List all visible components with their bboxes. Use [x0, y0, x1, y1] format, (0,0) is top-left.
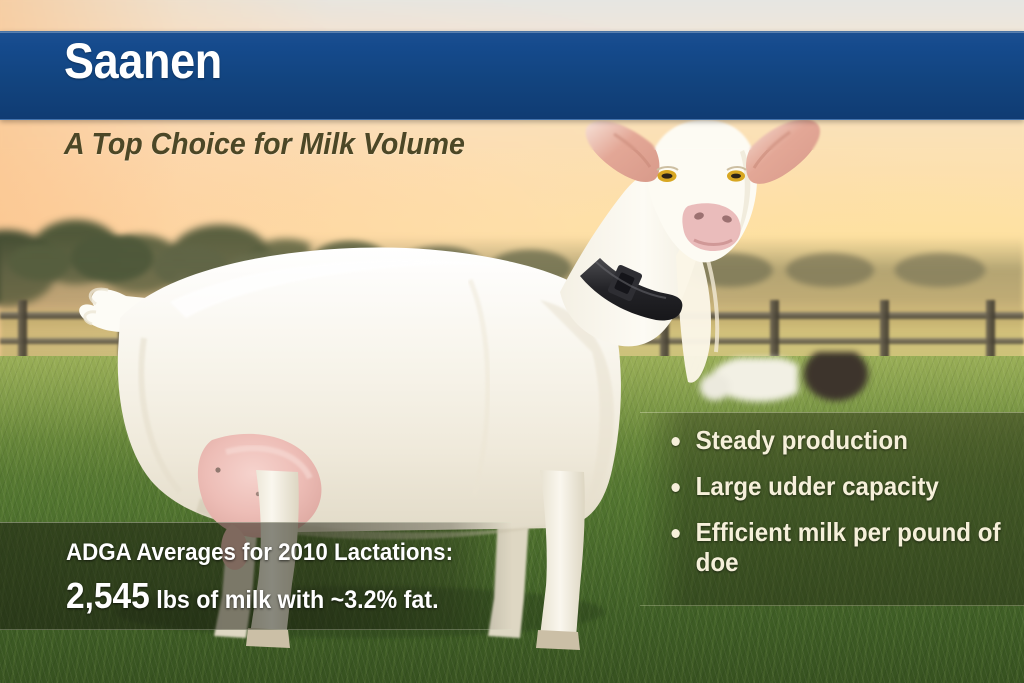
list-item-label: Large udder capacity — [696, 471, 939, 501]
page-subtitle: A Top Choice for Milk Volume — [64, 127, 465, 162]
page-title: Saanen — [64, 36, 222, 86]
list-item: Large udder capacity — [664, 471, 1008, 501]
infographic-card: Saanen A Top Choice for Milk Volume Stea… — [0, 0, 1024, 683]
features-list: Steady production Large udder capacity E… — [664, 425, 1024, 578]
list-item: Steady production — [664, 425, 1008, 455]
bullet-dot-icon — [671, 437, 679, 446]
bullet-dot-icon — [671, 483, 679, 492]
stats-milk-value: 2,545 — [66, 575, 150, 616]
list-item-label: Steady production — [696, 425, 908, 455]
list-item: Efficient milk per pound of doe — [664, 517, 1008, 577]
list-item-label: Efficient milk per pound of doe — [696, 517, 1001, 577]
stats-value-line: 2,545 lbs of milk with ~3.2% fat. — [66, 575, 439, 617]
bullet-dot-icon — [671, 529, 679, 538]
stats-milk-detail: lbs of milk with ~3.2% fat. — [150, 586, 439, 614]
stats-heading: ADGA Averages for 2010 Lactations: — [66, 539, 453, 567]
